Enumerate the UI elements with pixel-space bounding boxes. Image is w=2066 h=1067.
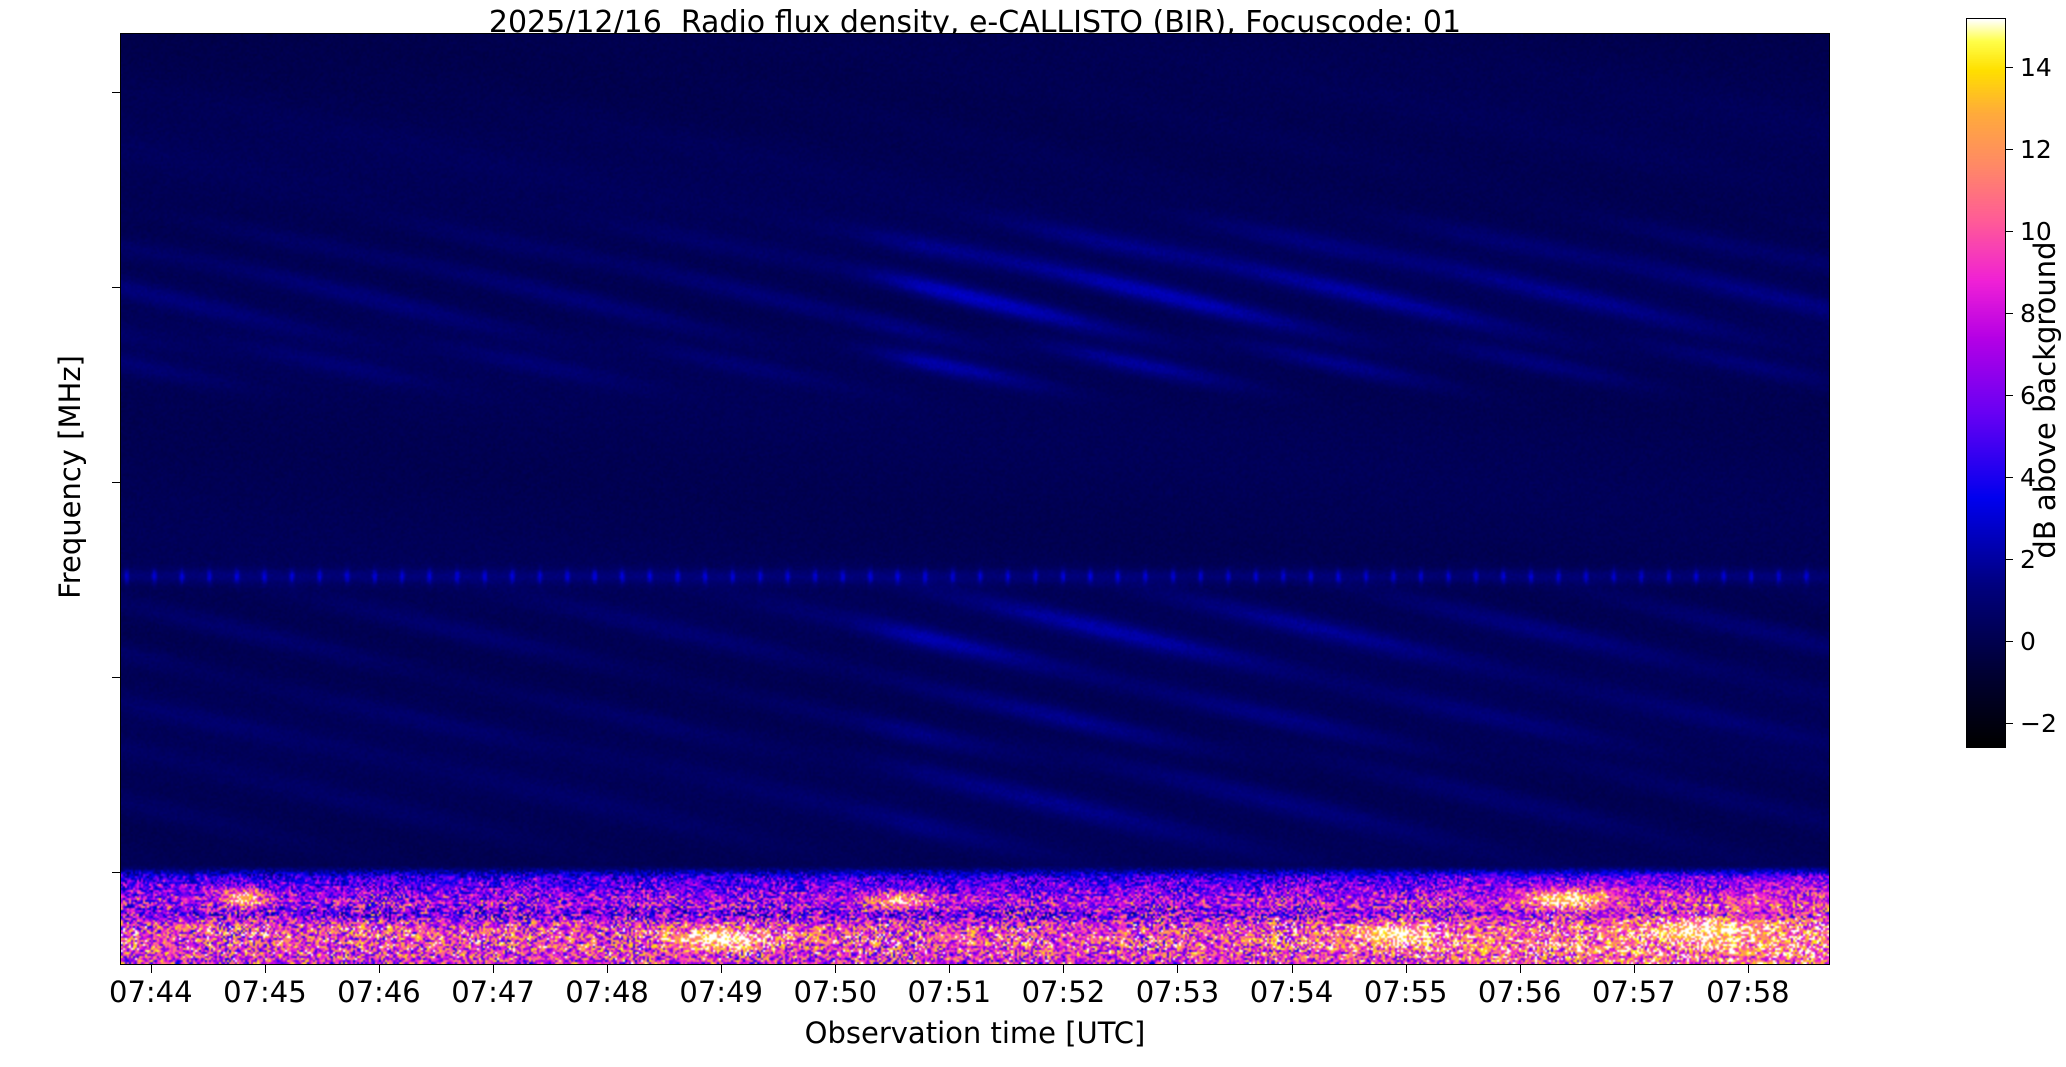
x-tick-mark: [1406, 965, 1407, 973]
colorbar-tick-mark: [2006, 149, 2013, 150]
x-tick-mark: [493, 965, 494, 973]
x-tick-mark: [1177, 965, 1178, 973]
colorbar-tick-mark: [2006, 231, 2013, 232]
y-tick-mark: [112, 872, 120, 873]
colorbar-tick-mark: [2006, 67, 2013, 68]
x-tick-mark: [949, 965, 950, 973]
colorbar-title: dB above background: [2028, 35, 2062, 765]
colorbar-tick-mark: [2006, 313, 2013, 314]
colorbar: [1966, 18, 2006, 748]
x-tick-mark: [151, 965, 152, 973]
x-tick-mark: [1748, 965, 1749, 973]
colorbar-tick-mark: [2006, 477, 2013, 478]
x-tick-mark: [721, 965, 722, 973]
colorbar-gradient: [1967, 19, 2005, 747]
colorbar-tick-mark: [2006, 641, 2013, 642]
x-tick-mark: [265, 965, 266, 973]
x-tick-mark: [379, 965, 380, 973]
x-tick-mark: [1063, 965, 1064, 973]
y-axis-label: Frequency [MHz]: [53, 27, 87, 927]
spectrogram-image: [121, 34, 1829, 964]
x-tick-mark: [1634, 965, 1635, 973]
colorbar-tick-mark: [2006, 395, 2013, 396]
spectrogram-plot-area: [120, 33, 1830, 965]
y-tick-mark: [112, 287, 120, 288]
x-tick-label: 07:58: [1648, 975, 1848, 1009]
x-axis-label: Observation time [UTC]: [120, 1016, 1830, 1050]
figure-root: 2025/12/16 Radio flux density, e-CALLIST…: [0, 0, 2066, 1067]
y-tick-mark: [112, 482, 120, 483]
x-tick-mark: [1292, 965, 1293, 973]
x-tick-mark: [1520, 965, 1521, 973]
y-tick-mark: [112, 92, 120, 93]
x-tick-mark: [607, 965, 608, 973]
x-tick-mark: [835, 965, 836, 973]
y-tick-mark: [112, 677, 120, 678]
colorbar-tick-mark: [2006, 559, 2013, 560]
colorbar-tick-mark: [2006, 723, 2013, 724]
